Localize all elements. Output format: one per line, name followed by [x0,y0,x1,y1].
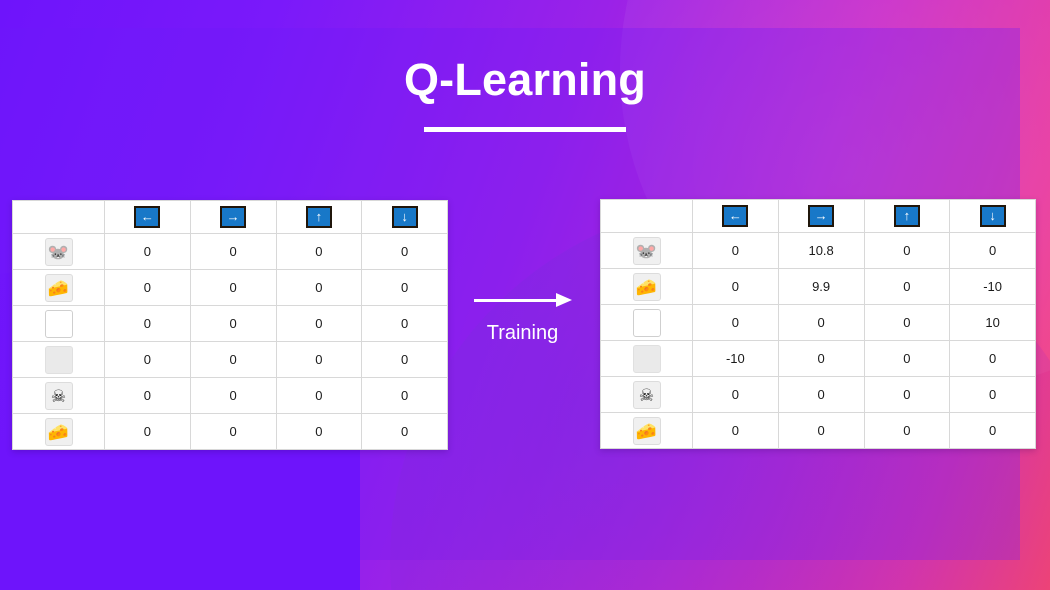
column-header-state-column [13,201,105,234]
state-cell [13,306,105,342]
state-cell: ☠ [13,378,105,414]
empty-gray-icon [633,345,661,373]
q-value-cell: 0 [362,414,448,450]
cheese-big-icon: 🧀 [633,417,661,445]
table-row: 0000 [13,306,448,342]
table-row: 🐭0000 [13,234,448,270]
table-row: 🧀0000 [601,413,1036,449]
table-row: 🧀09.90-10 [601,269,1036,305]
q-value-cell: 0 [950,341,1036,377]
q-value-cell: 0 [864,269,950,305]
arrow-shaft [474,299,558,302]
state-cell [601,341,693,377]
q-value-cell: 0 [105,234,191,270]
q-value-cell: 0 [778,377,864,413]
state-cell: 🐭 [13,234,105,270]
arrow-up-icon[interactable]: ↑ [306,206,332,228]
q-value-cell: 0 [105,342,191,378]
q-value-cell: 0 [105,378,191,414]
q-value-cell: 0 [276,234,362,270]
state-cell: ☠ [601,377,693,413]
right-arrow-icon [474,292,572,308]
column-header-arrow-left-icon: ← [105,201,191,234]
q-value-cell: 0 [276,306,362,342]
q-value-cell: 0 [190,414,276,450]
column-header-arrow-up-icon: ↑ [276,201,362,234]
empty-white-icon [45,310,73,338]
q-value-cell: 0 [105,270,191,306]
q-value-cell: 0 [693,377,779,413]
empty-gray-icon [45,346,73,374]
q-table-after-training: ←→↑↓🐭010.800🧀09.90-1000010-10000☠0000🧀00… [600,199,1036,449]
q-value-cell: 0 [864,341,950,377]
column-header-arrow-right-icon: → [190,201,276,234]
q-value-cell: 0 [362,306,448,342]
arrow-down-icon[interactable]: ↓ [980,205,1006,227]
column-header-arrow-left-icon: ← [693,200,779,233]
q-value-cell: 0 [105,414,191,450]
q-value-cell: 0 [950,233,1036,269]
q-value-cell: 0 [105,306,191,342]
state-cell [601,305,693,341]
table-row: 00010 [601,305,1036,341]
title-underline [424,127,626,132]
column-header-arrow-up-icon: ↑ [864,200,950,233]
q-value-cell: 0 [864,233,950,269]
q-value-cell: 0 [693,233,779,269]
table-row: 0000 [13,342,448,378]
q-table-before-training: ←→↑↓🐭0000🧀000000000000☠0000🧀0000 [12,200,448,450]
table-row: 🐭010.800 [601,233,1036,269]
table-row: -10000 [601,341,1036,377]
decorative-solid-bottom-left [0,440,360,590]
arrow-left-icon[interactable]: ← [722,205,748,227]
q-value-cell: 0 [864,377,950,413]
arrow-left-icon[interactable]: ← [134,206,160,228]
cheese-icon: 🧀 [45,274,73,302]
q-value-cell: 9.9 [778,269,864,305]
column-header-arrow-down-icon: ↓ [362,201,448,234]
table-header-row: ←→↑↓ [13,201,448,234]
q-value-cell: 0 [778,305,864,341]
training-label: Training [455,322,590,344]
q-value-cell: 0 [362,234,448,270]
q-value-cell: 0 [864,413,950,449]
q-value-cell: 0 [190,270,276,306]
q-value-cell: -10 [950,269,1036,305]
q-value-cell: 0 [190,342,276,378]
arrow-up-icon[interactable]: ↑ [894,205,920,227]
state-cell: 🧀 [601,269,693,305]
table-row: ☠0000 [601,377,1036,413]
page-title: Q-Learning [0,55,1050,105]
q-value-cell: 10.8 [778,233,864,269]
q-value-cell: 0 [362,270,448,306]
empty-white-icon [633,309,661,337]
column-header-arrow-down-icon: ↓ [950,200,1036,233]
arrow-right-icon[interactable]: → [220,206,246,228]
q-value-cell: 0 [276,378,362,414]
q-value-cell: 0 [190,234,276,270]
poison-icon: ☠ [45,382,73,410]
q-value-cell: 10 [950,305,1036,341]
q-value-cell: 0 [864,305,950,341]
title-block: Q-Learning [0,55,1050,132]
state-cell: 🧀 [601,413,693,449]
state-cell: 🐭 [601,233,693,269]
mouse-icon: 🐭 [45,238,73,266]
q-value-cell: 0 [950,413,1036,449]
q-value-cell: 0 [362,378,448,414]
cheese-icon: 🧀 [633,273,661,301]
arrow-down-icon[interactable]: ↓ [392,206,418,228]
arrow-right-icon[interactable]: → [808,205,834,227]
poison-icon: ☠ [633,381,661,409]
state-cell: 🧀 [13,414,105,450]
q-value-cell: 0 [950,377,1036,413]
table-row: ☠0000 [13,378,448,414]
table-row: 🧀0000 [13,270,448,306]
q-value-cell: 0 [276,342,362,378]
state-cell [13,342,105,378]
slide-canvas: Q-Learning ←→↑↓🐭0000🧀000000000000☠0000🧀0… [0,0,1050,590]
table-row: 🧀0000 [13,414,448,450]
q-value-cell: 0 [190,378,276,414]
mouse-icon: 🐭 [633,237,661,265]
q-value-cell: 0 [362,342,448,378]
state-cell: 🧀 [13,270,105,306]
table-header-row: ←→↑↓ [601,200,1036,233]
q-value-cell: 0 [276,270,362,306]
column-header-state-column [601,200,693,233]
q-value-cell: 0 [693,269,779,305]
cheese-big-icon: 🧀 [45,418,73,446]
arrow-head [556,293,572,307]
q-value-cell: 0 [778,413,864,449]
q-value-cell: 0 [693,413,779,449]
q-value-cell: 0 [276,414,362,450]
q-value-cell: -10 [693,341,779,377]
column-header-arrow-right-icon: → [778,200,864,233]
q-value-cell: 0 [190,306,276,342]
q-value-cell: 0 [778,341,864,377]
training-transition: Training [455,292,590,344]
q-value-cell: 0 [693,305,779,341]
